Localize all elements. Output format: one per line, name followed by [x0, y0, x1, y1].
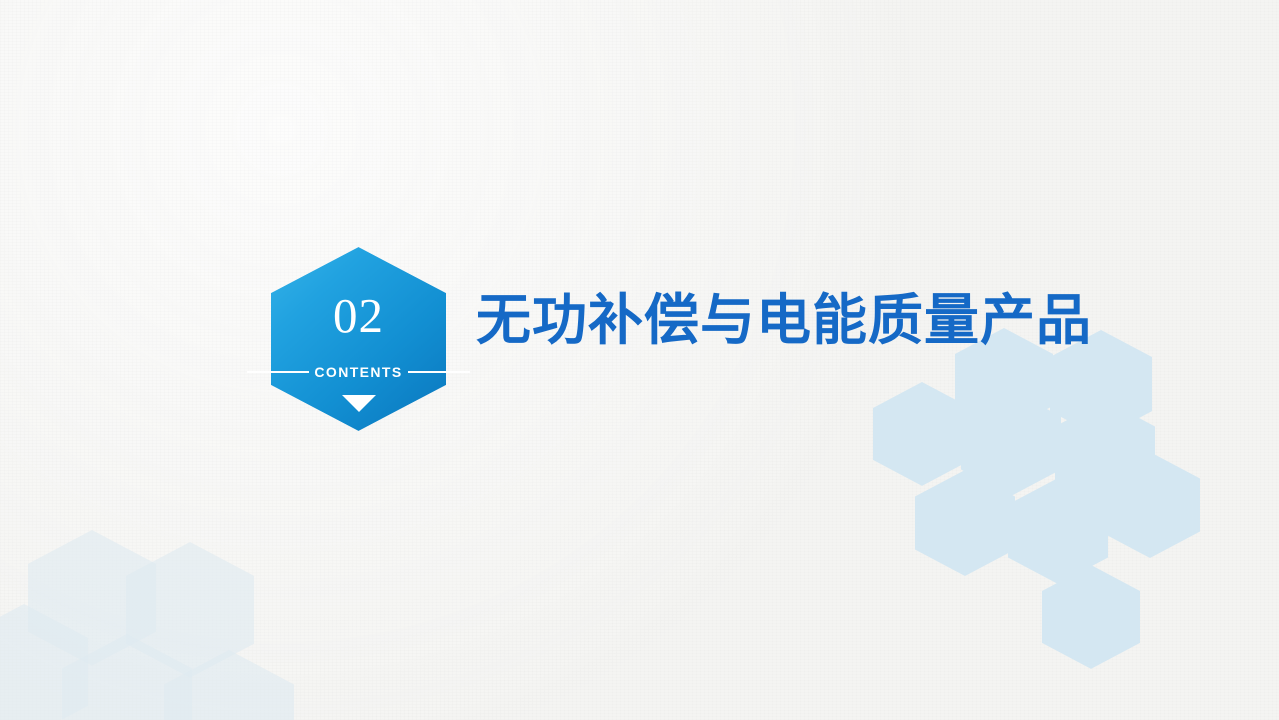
- decorative-hexagon: [961, 390, 1061, 496]
- contents-rule-left: [247, 371, 309, 373]
- slide-canvas: 02 CONTENTS 无功补偿与电能质量产品: [0, 0, 1279, 720]
- decorative-hexagon: [873, 382, 971, 486]
- section-badge: 02: [271, 247, 446, 431]
- hexagon-cluster-right: [0, 0, 1279, 720]
- hexagon-cluster-bottom-left: [0, 0, 1279, 720]
- decorative-hexagon: [1008, 478, 1108, 584]
- decorative-hexagon: [1055, 400, 1155, 506]
- decorative-hexagon: [1042, 565, 1140, 669]
- contents-rule-right: [408, 371, 470, 373]
- decorative-hexagon-faint: [28, 530, 156, 666]
- decorative-hexagon: [915, 470, 1015, 576]
- contents-label-row: CONTENTS: [247, 363, 470, 381]
- triangle-down-icon: [342, 395, 376, 412]
- decorative-hexagon-faint: [0, 604, 88, 720]
- decorative-hexagon-faint: [62, 634, 192, 720]
- background-texture: [0, 0, 1279, 720]
- decorative-hexagon-faint: [126, 542, 254, 678]
- decorative-hexagon: [1100, 452, 1200, 558]
- section-number: 02: [271, 291, 446, 340]
- page-title: 无功补偿与电能质量产品: [476, 292, 1092, 350]
- decorative-hexagon-faint: [164, 650, 294, 720]
- contents-label: CONTENTS: [314, 364, 402, 380]
